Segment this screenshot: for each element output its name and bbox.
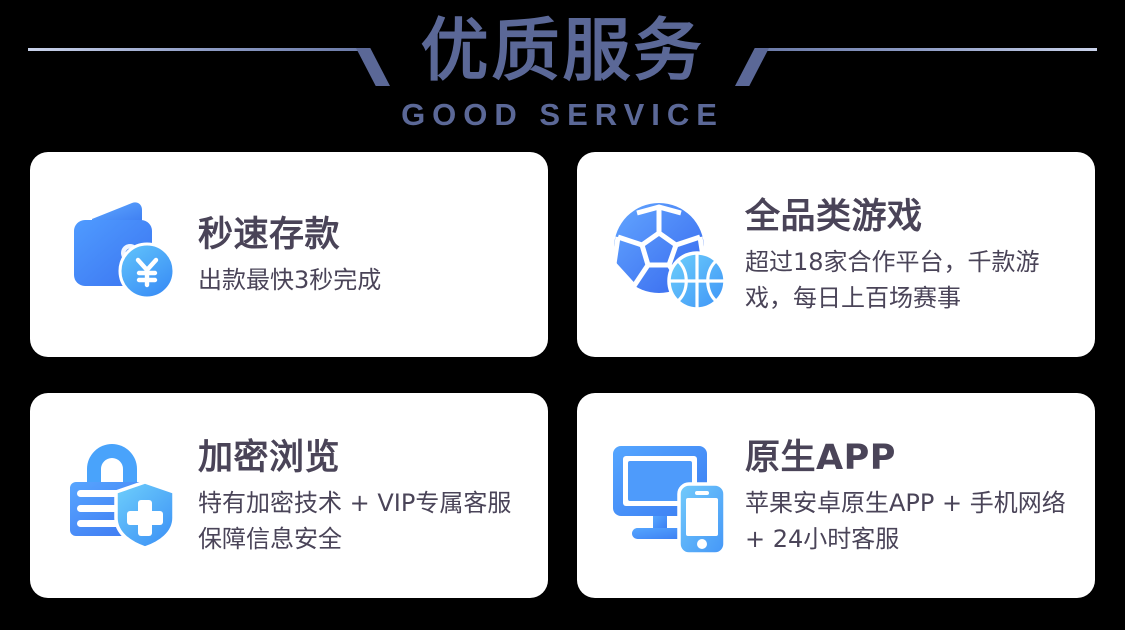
card-title: 全品类游戏 (745, 194, 1081, 240)
page-header: 优质服务 GOOD SERVICE (0, 0, 1125, 150)
service-card-grid: 秒速存款 出款最快3秒完成 (30, 152, 1095, 598)
soccer-basketball-icon (603, 189, 735, 321)
card-description: 苹果安卓原生APP + 手机网络 + 24小时客服 (745, 485, 1075, 557)
card-text-block: 秒速存款 出款最快3秒完成 (198, 212, 534, 298)
card-title: 原生APP (745, 435, 1081, 481)
card-text-block: 加密浏览 特有加密技术 + VIP专属客服保障信息安全 (198, 435, 534, 557)
card-description: 超过18家合作平台，千款游戏，每日上百场赛事 (745, 244, 1075, 316)
card-title: 加密浏览 (198, 435, 534, 481)
card-description: 特有加密技术 + VIP专属客服保障信息安全 (198, 485, 528, 557)
service-card-native-app[interactable]: 原生APP 苹果安卓原生APP + 手机网络 + 24小时客服 (577, 393, 1095, 598)
monitor-phone-icon (603, 430, 735, 562)
card-title: 秒速存款 (198, 212, 534, 258)
page-title: 优质服务 (0, 8, 1125, 96)
wallet-yen-icon (56, 189, 188, 321)
service-card-instant-deposit[interactable]: 秒速存款 出款最快3秒完成 (30, 152, 548, 357)
card-description: 出款最快3秒完成 (198, 262, 534, 298)
card-text-block: 全品类游戏 超过18家合作平台，千款游戏，每日上百场赛事 (745, 194, 1081, 316)
card-text-block: 原生APP 苹果安卓原生APP + 手机网络 + 24小时客服 (745, 435, 1081, 557)
service-card-encrypted-browsing[interactable]: 加密浏览 特有加密技术 + VIP专属客服保障信息安全 (30, 393, 548, 598)
page-subtitle: GOOD SERVICE (0, 96, 1125, 134)
service-card-all-category-games[interactable]: 全品类游戏 超过18家合作平台，千款游戏，每日上百场赛事 (577, 152, 1095, 357)
lock-shield-icon (56, 430, 188, 562)
